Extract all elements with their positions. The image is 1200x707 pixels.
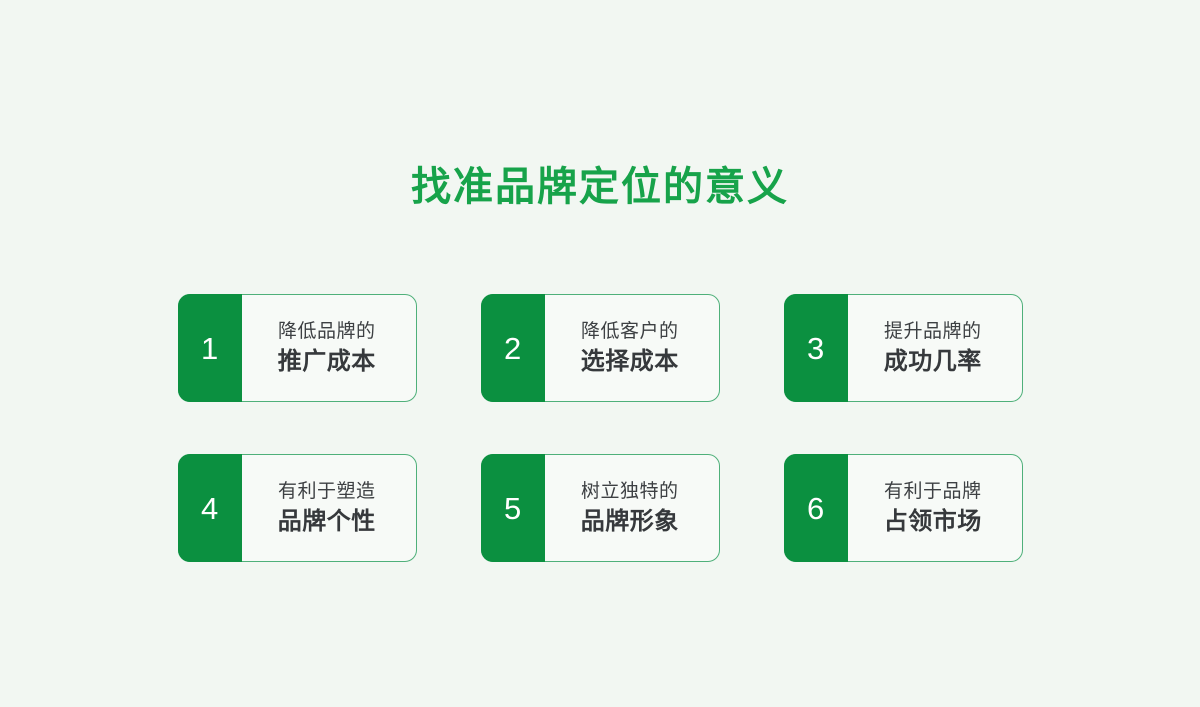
card-text-6: 有利于品牌 占领市场	[848, 455, 1022, 561]
benefit-card-grid: 1 降低品牌的 推广成本 2 降低客户的 选择成本 3 提升品牌的 成功几率	[178, 294, 1024, 562]
card-line-top-4: 有利于塑造	[278, 479, 376, 505]
page-title: 找准品牌定位的意义	[411, 163, 789, 211]
card-line-top-2: 降低客户的	[581, 319, 679, 345]
card-text-3: 提升品牌的 成功几率	[848, 295, 1022, 401]
card-number-block-2: 2	[481, 294, 545, 403]
card-number-3: 3	[807, 333, 824, 364]
card-line-top-1: 降低品牌的	[278, 319, 376, 345]
card-number-6: 6	[807, 493, 824, 524]
card-line-top-5: 树立独特的	[581, 479, 679, 505]
card-line-top-6: 有利于品牌	[884, 479, 982, 505]
benefit-card-2[interactable]: 2 降低客户的 选择成本	[481, 294, 720, 402]
card-number-5: 5	[504, 493, 521, 524]
card-text-5: 树立独特的 品牌形象	[545, 455, 719, 561]
card-number-block-1: 1	[178, 294, 242, 403]
card-number-1: 1	[201, 333, 218, 364]
benefit-card-6[interactable]: 6 有利于品牌 占领市场	[784, 454, 1023, 562]
card-number-block-4: 4	[178, 454, 242, 563]
title-container: 找准品牌定位的意义	[0, 136, 1200, 238]
card-number-2: 2	[504, 333, 521, 364]
slide-canvas: 找准品牌定位的意义 1 降低品牌的 推广成本 2 降低客户的 选择成本 3	[0, 0, 1200, 707]
card-line-top-3: 提升品牌的	[884, 319, 982, 345]
card-line-bottom-3: 成功几率	[884, 346, 982, 377]
card-text-1: 降低品牌的 推广成本	[242, 295, 416, 401]
card-line-bottom-5: 品牌形象	[581, 506, 679, 537]
card-number-block-6: 6	[784, 454, 848, 563]
card-text-4: 有利于塑造 品牌个性	[242, 455, 416, 561]
benefit-card-3[interactable]: 3 提升品牌的 成功几率	[784, 294, 1023, 402]
benefit-card-1[interactable]: 1 降低品牌的 推广成本	[178, 294, 417, 402]
card-text-2: 降低客户的 选择成本	[545, 295, 719, 401]
card-line-bottom-6: 占领市场	[884, 506, 982, 537]
card-number-block-5: 5	[481, 454, 545, 563]
card-line-bottom-4: 品牌个性	[278, 506, 376, 537]
card-number-block-3: 3	[784, 294, 848, 403]
card-line-bottom-1: 推广成本	[278, 346, 376, 377]
benefit-card-5[interactable]: 5 树立独特的 品牌形象	[481, 454, 720, 562]
card-number-4: 4	[201, 493, 218, 524]
benefit-card-4[interactable]: 4 有利于塑造 品牌个性	[178, 454, 417, 562]
card-line-bottom-2: 选择成本	[581, 346, 679, 377]
